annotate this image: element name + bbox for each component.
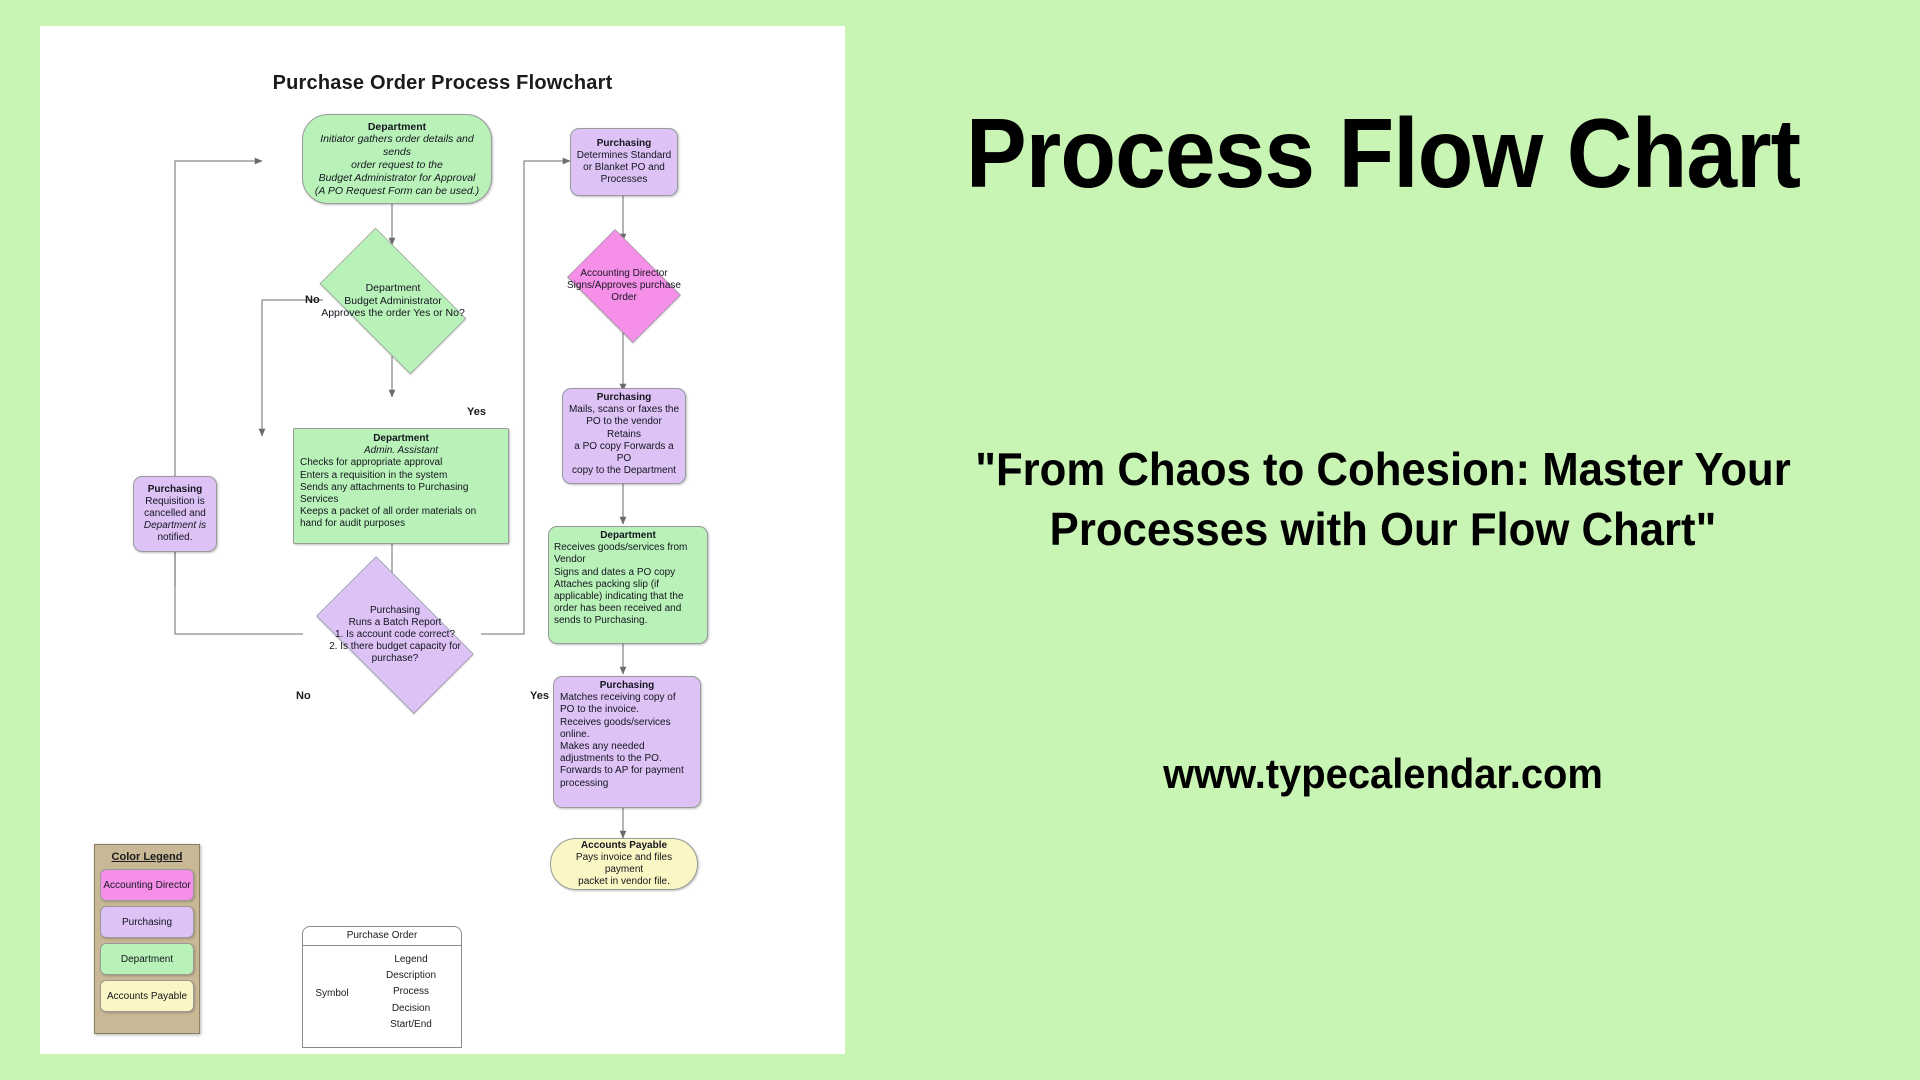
color-legend: Color Legend Accounting Director Purchas… <box>94 844 200 1034</box>
symbol-legend-description-header: Description <box>386 970 436 981</box>
node-receives-line-6: order has been received and <box>554 603 702 615</box>
node-matches-line-2: PO to the invoice. <box>560 704 694 716</box>
edge-label-approval-yes: Yes <box>467 406 486 418</box>
node-accounting-director[interactable]: Accounting Director Signs/Approves purch… <box>558 238 690 334</box>
color-legend-item-accounting-director: Accounting Director <box>100 869 194 901</box>
node-initiator-line-2: order request to the <box>351 159 443 172</box>
node-batch-header: Purchasing <box>370 605 420 617</box>
node-admin-line-5: Keeps a packet of all order materials on <box>300 506 502 518</box>
node-initiator-line-4: (A PO Request Form can be used.) <box>315 185 479 198</box>
node-receives-line-5: applicable) indicating that the <box>554 591 702 603</box>
color-legend-label-1: Purchasing <box>122 917 172 928</box>
node-cancelled-header: Purchasing <box>148 484 202 496</box>
node-acctdir-line-1: Signs/Approves purchase <box>567 280 681 292</box>
node-initiator-line-1: Initiator gathers order details and send… <box>311 133 483 159</box>
promo-panel: Process Flow Chart "From Chaos to Cohesi… <box>845 0 1920 1080</box>
node-batch-line-3: 2. Is there budget capacity for <box>329 641 461 653</box>
node-ap-line-2: packet in vendor file. <box>578 876 670 888</box>
node-initiator[interactable]: Department Initiator gathers order detai… <box>302 114 492 204</box>
symbol-legend: Purchase Order Symbol Legend Description… <box>302 926 462 1048</box>
node-mails-line-1: Mails, scans or faxes the <box>569 404 679 416</box>
node-determines-po[interactable]: Purchasing Determines Standard or Blanke… <box>570 128 678 196</box>
node-receives-line-7: sends to Purchasing. <box>554 615 702 627</box>
node-receives-line-1: Receives goods/services from <box>554 542 702 554</box>
edge-label-approval-no: No <box>305 294 320 306</box>
symbol-legend-row-decision: Decision <box>392 1003 430 1014</box>
symbol-legend-title: Purchase Order <box>303 927 461 946</box>
node-initiator-line-3: Budget Administrator for Approval <box>319 172 476 185</box>
node-receives-goods[interactable]: Department Receives goods/services from … <box>548 526 708 644</box>
node-approval-decision[interactable]: Department Budget Administrator Approves… <box>302 245 484 357</box>
node-admin-subheader: Admin. Assistant <box>364 445 438 457</box>
node-approval-header: Department <box>366 282 421 295</box>
node-matches-line-4: online. <box>560 729 694 741</box>
node-batch-report-decision[interactable]: Purchasing Runs a Batch Report 1. Is acc… <box>297 575 493 695</box>
node-batch-line-1: Runs a Batch Report <box>349 617 442 629</box>
node-mails-line-3: a PO copy Forwards a PO <box>568 441 680 465</box>
node-mails-line-2: PO to the vendor Retains <box>568 416 680 440</box>
node-receives-line-2: Vendor <box>554 554 702 566</box>
node-receives-line-3: Signs and dates a PO copy <box>554 567 702 579</box>
symbol-legend-symbol-column: Symbol <box>303 946 361 1040</box>
node-batch-line-2: 1. Is account code correct? <box>335 629 455 641</box>
node-matches-line-3: Receives goods/services <box>560 717 694 729</box>
node-mails-po[interactable]: Purchasing Mails, scans or faxes the PO … <box>562 388 686 484</box>
node-admin-line-3: Sends any attachments to Purchasing <box>300 482 502 494</box>
edge-label-batch-no: No <box>296 690 311 702</box>
node-mails-header: Purchasing <box>597 392 651 404</box>
node-acctdir-header: Accounting Director <box>580 268 667 280</box>
color-legend-item-department: Department <box>100 943 194 975</box>
color-legend-title: Color Legend <box>100 851 194 863</box>
node-requisition-cancelled[interactable]: Purchasing Requisition is cancelled and … <box>133 476 217 552</box>
node-admin-assistant[interactable]: Department Admin. Assistant Checks for a… <box>293 428 509 544</box>
node-determines-header: Purchasing <box>597 138 651 150</box>
node-matches-line-8: processing <box>560 778 694 790</box>
node-admin-line-1: Checks for appropriate approval <box>300 457 502 469</box>
color-legend-label-3: Accounts Payable <box>107 991 187 1002</box>
node-matches-line-1: Matches receiving copy of <box>560 692 694 704</box>
node-receives-header: Department <box>600 530 656 542</box>
node-ap-header: Accounts Payable <box>581 840 667 852</box>
node-mails-line-4: copy to the Department <box>572 465 676 477</box>
node-initiator-header: Department <box>368 121 426 134</box>
node-determines-line-2: or Blanket PO and <box>583 162 665 174</box>
symbol-legend-row-process: Process <box>393 986 429 997</box>
symbol-legend-row-start-end: Start/End <box>390 1019 432 1030</box>
node-batch-line-4: purchase? <box>372 653 419 665</box>
node-cancelled-line-2: cancelled and <box>144 508 206 520</box>
node-receives-line-4: Attaches packing slip (if <box>554 579 702 591</box>
node-cancelled-line-4: notified. <box>157 532 192 544</box>
node-cancelled-line-1: Requisition is <box>145 496 204 508</box>
color-legend-label-0: Accounting Director <box>103 880 190 891</box>
node-cancelled-line-3: Department is <box>144 520 206 532</box>
promo-tagline: "From Chaos to Cohesion: Master Your Pro… <box>903 440 1863 560</box>
node-acctdir-line-2: Order <box>611 292 637 304</box>
node-admin-line-6: hand for audit purposes <box>300 518 502 530</box>
promo-title: Process Flow Chart <box>927 104 1838 202</box>
node-determines-line-3: Processes <box>601 174 648 186</box>
node-ap-line-1: Pays invoice and files payment <box>557 852 691 876</box>
promo-url[interactable]: www.typecalendar.com <box>903 750 1863 798</box>
symbol-legend-subtitle: Legend <box>394 954 427 965</box>
node-admin-header: Department <box>373 433 429 445</box>
node-approval-line-2: Approves the order Yes or No? <box>321 307 465 320</box>
node-admin-line-2: Enters a requisition in the system <box>300 470 502 482</box>
color-legend-item-accounts-payable: Accounts Payable <box>100 980 194 1012</box>
symbol-legend-symbol-header: Symbol <box>315 988 348 999</box>
color-legend-label-2: Department <box>121 954 173 965</box>
node-matches-header: Purchasing <box>600 680 654 692</box>
flowchart-canvas: Purchase Order Process Flowchart <box>40 26 845 1054</box>
node-matches-line-6: adjustments to the PO. <box>560 753 694 765</box>
node-matches-line-7: Forwards to AP for payment <box>560 765 694 777</box>
color-legend-item-purchasing: Purchasing <box>100 906 194 938</box>
node-accounts-payable[interactable]: Accounts Payable Pays invoice and files … <box>550 838 698 890</box>
node-determines-line-1: Determines Standard <box>577 150 672 162</box>
node-matches-line-5: Makes any needed <box>560 741 694 753</box>
node-approval-line-1: Budget Administrator <box>344 295 441 308</box>
symbol-legend-description-column: Legend Description Process Decision Star… <box>361 946 461 1040</box>
node-matches-invoice[interactable]: Purchasing Matches receiving copy of PO … <box>553 676 701 808</box>
node-admin-line-4: Services <box>300 494 502 506</box>
edge-label-batch-yes: Yes <box>530 690 549 702</box>
